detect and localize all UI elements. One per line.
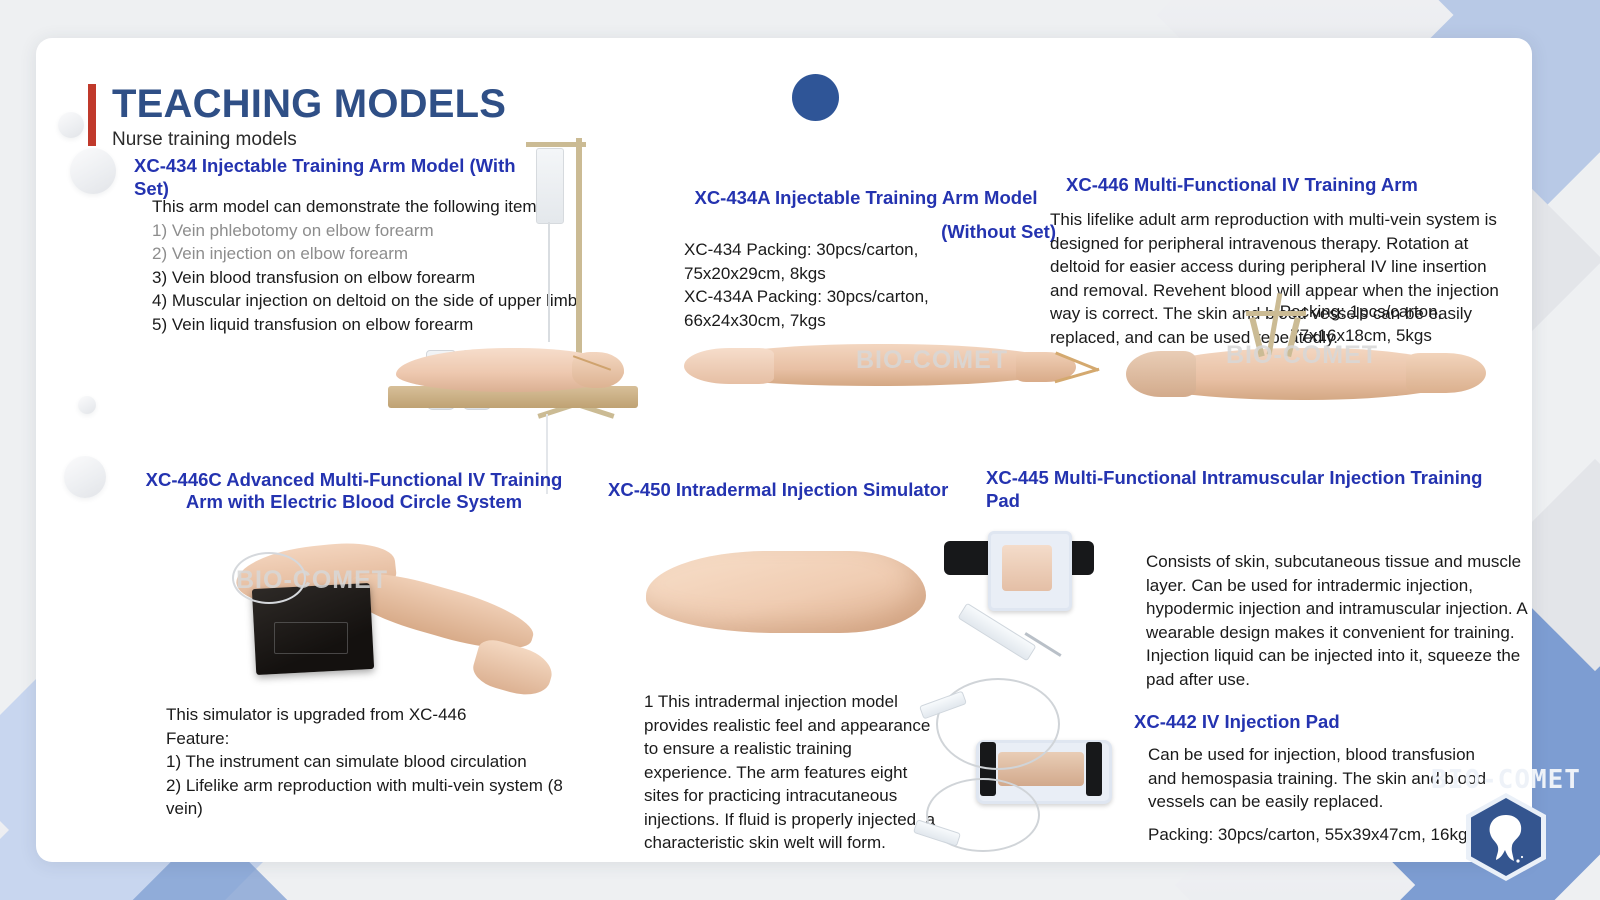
product-image-xc-434a: BIO-COMET <box>666 308 1106 418</box>
product-title-xc-442: XC-442 IV Injection Pad <box>1134 710 1532 733</box>
decor-circle <box>64 456 106 498</box>
product-line: 1) The instrument can simulate blood cir… <box>166 750 586 774</box>
brand-logo: BIO-COMET <box>1426 766 1586 876</box>
product-description-xc-445: Consists of skin, subcutaneous tissue an… <box>1146 550 1532 691</box>
product-title-xc-434a-line1: XC-434A Injectable Training Arm Model <box>676 186 1056 209</box>
title-accent-bar <box>88 84 96 146</box>
decor-circle <box>70 148 116 194</box>
packing-line: XC-434 Packing: 30pcs/carton, <box>684 238 1014 262</box>
packing-line: 75x20x29cm, 8kgs <box>684 262 1014 286</box>
product-line: 2) Lifelike arm reproduction with multi-… <box>166 774 586 821</box>
slide-card: TEACHING MODELS Nurse training models XC… <box>36 38 1532 862</box>
product-image-xc-434 <box>376 138 676 438</box>
product-title-xc-446: XC-446 Multi-Functional IV Training Arm <box>1066 173 1496 196</box>
product-image-xc-442 <box>906 668 1166 862</box>
product-image-xc-450 <box>616 523 946 653</box>
decor-blue-dot <box>792 74 839 121</box>
product-body-xc-446c: This simulator is upgraded from XC-446 F… <box>166 703 586 821</box>
product-image-xc-446c: BIO-COMET <box>186 518 606 708</box>
watermark: BIO-COMET <box>856 346 1008 375</box>
page-title: TEACHING MODELS <box>88 80 506 128</box>
watermark: BIO-COMET <box>1226 341 1378 370</box>
product-title-xc-450: XC-450 Intradermal Injection Simulator <box>608 478 1008 501</box>
product-description-xc-450: 1 This intradermal injection model provi… <box>644 690 944 855</box>
product-line: Feature: <box>166 727 586 751</box>
packing-line: XC-434A Packing: 30pcs/carton, <box>684 285 1014 309</box>
product-title-xc-446c-line2: Arm with Electric Blood Circle System <box>144 490 564 513</box>
comet-hexagon-icon <box>1471 798 1541 876</box>
product-title-xc-446c-line1: XC-446C Advanced Multi-Functional IV Tra… <box>144 468 564 491</box>
decor-circle <box>58 112 84 138</box>
brand-wordmark: BIO-COMET <box>1426 766 1586 794</box>
product-image-xc-446: BIO-COMET <box>1076 293 1496 423</box>
decor-circle <box>78 396 96 414</box>
watermark: BIO-COMET <box>236 566 388 595</box>
